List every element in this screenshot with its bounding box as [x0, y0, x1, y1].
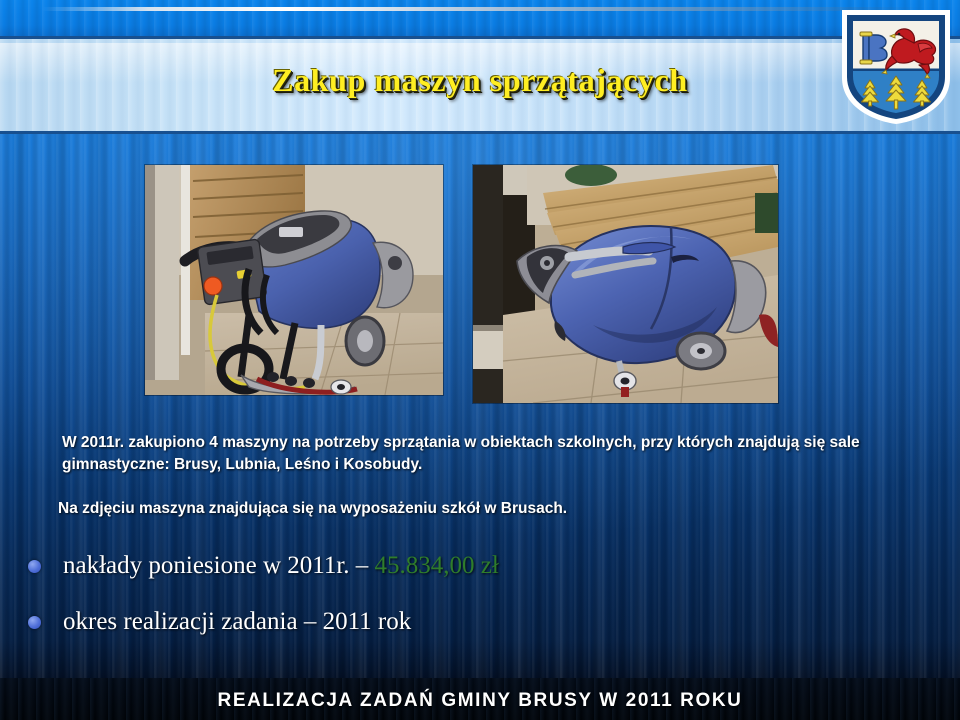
page-title: Zakup maszyn sprzątających [0, 62, 960, 99]
photo-machine-side [145, 165, 443, 395]
footer-divider [42, 7, 926, 11]
bullet-item-period: okres realizacji zadania – 2011 rok [28, 608, 411, 636]
bullet-dot-icon [28, 616, 41, 629]
bullet-label-costs: nakłady poniesione w 2011r. – [63, 552, 375, 579]
coat-of-arms-icon [840, 8, 952, 126]
bullet-dot-icon [28, 560, 41, 573]
top-strip [0, 0, 960, 36]
footer-text: REALIZACJA ZADAŃ GMINY BRUSY W 2011 ROKU [0, 690, 960, 712]
paragraph-2: Na zdjęciu maszyna znajdująca się na wyp… [58, 498, 898, 520]
bullet-text-costs: nakłady poniesione w 2011r. – 45.834,00 … [63, 552, 499, 580]
paragraph-1: W 2011r. zakupiono 4 maszyny na potrzeby… [62, 432, 902, 476]
amount-value: 45.834,00 zł [375, 552, 499, 579]
photo-machine-top [473, 165, 778, 403]
bullet-item-costs: nakłady poniesione w 2011r. – 45.834,00 … [28, 552, 499, 580]
presentation-slide: Zakup maszyn sprzątających [0, 0, 960, 720]
bullet-text-period: okres realizacji zadania – 2011 rok [63, 608, 411, 636]
